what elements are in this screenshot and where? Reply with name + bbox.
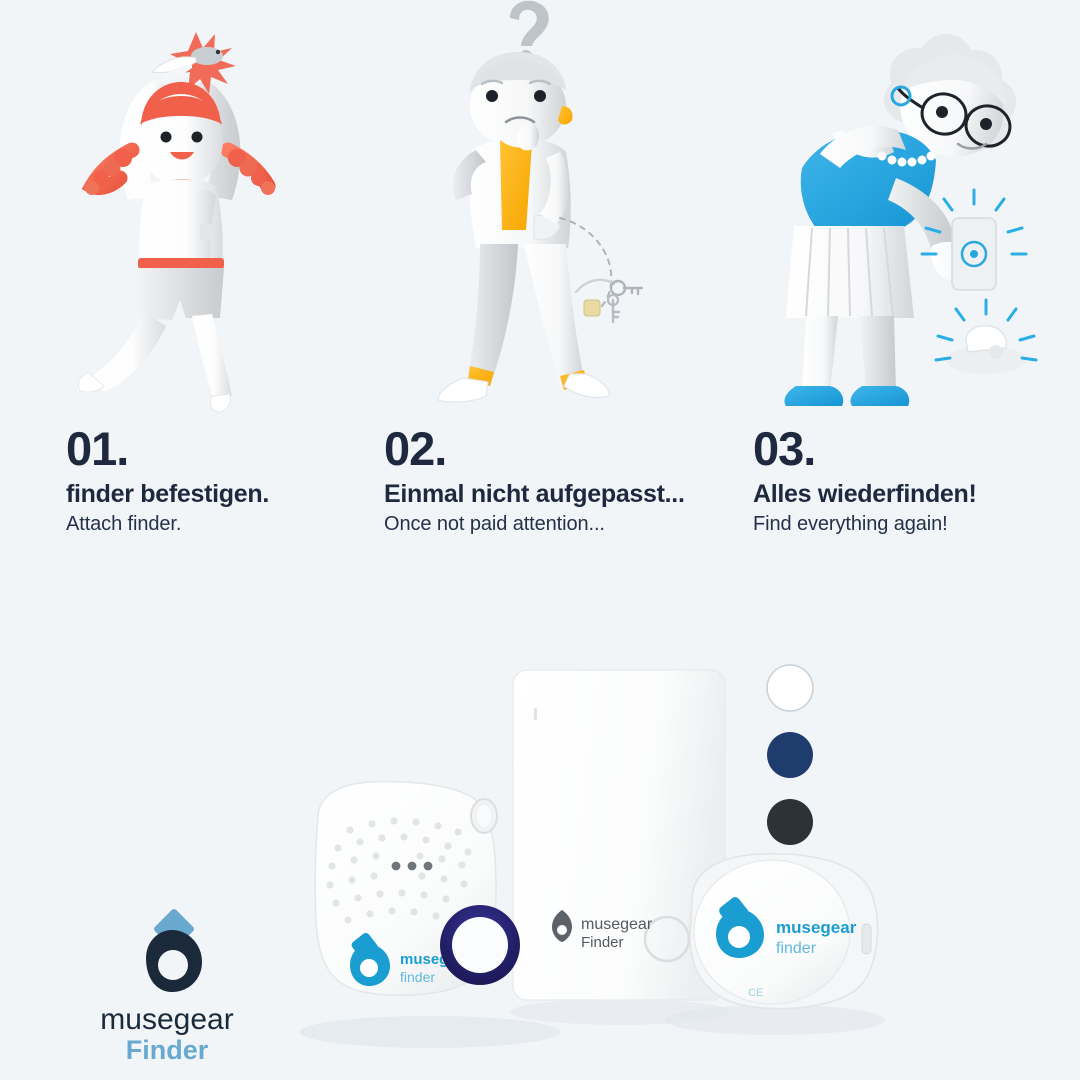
step-caption-1: 01. finder befestigen. Attach finder.	[0, 425, 360, 536]
color-swatch-navy	[767, 732, 813, 778]
step-card-2: 02. Einmal nicht aufgepasst... Once not …	[360, 0, 720, 600]
color-swatch-white	[767, 665, 813, 711]
step-card-1: 01. finder befestigen. Attach finder.	[0, 0, 360, 600]
step-title-en: Find everything again!	[753, 513, 1080, 536]
step-caption-3: 03. Alles wiederfinden! Find everything …	[720, 425, 1080, 536]
oval-logo-sub: finder	[776, 940, 817, 957]
step-number: 03.	[753, 425, 1080, 472]
step-card-3: 03. Alles wiederfinden! Find everything …	[720, 0, 1080, 600]
step-title-en: Attach finder.	[66, 513, 360, 536]
brand-logo-block: musegear Finder	[62, 908, 272, 1063]
musegear-droplet-logo	[146, 908, 202, 992]
square-finder-tracker: musegear finder	[315, 782, 520, 996]
steps-section: 01. finder befestigen. Attach finder.	[0, 0, 1080, 600]
woman-finding-with-phone-illustration	[720, 0, 1080, 418]
step-number: 02.	[384, 425, 720, 472]
keyring-hole	[471, 799, 497, 833]
brand-word-mark: musegear	[100, 1003, 233, 1036]
card-logo-sub: Finder	[581, 934, 624, 951]
oval-finder-tracker: musegear finder CE	[690, 854, 878, 1009]
brand-sub-mark: Finder	[126, 1035, 209, 1063]
oval-logo-word: musegear	[776, 918, 857, 937]
card-logo-word: musegear	[581, 916, 653, 933]
step-title-de: finder befestigen.	[66, 480, 360, 508]
step-title-de: Einmal nicht aufgepasst...	[384, 480, 720, 508]
step-number: 01.	[66, 425, 360, 472]
step-title-en: Once not paid attention...	[384, 513, 720, 536]
navy-ring-button	[440, 905, 520, 985]
page-root: 01. finder befestigen. Attach finder.	[0, 0, 1080, 1080]
step-title-de: Alles wiederfinden!	[753, 480, 1080, 508]
girl-celebrating-illustration	[0, 0, 360, 418]
color-swatch-list	[767, 665, 813, 845]
color-swatch-black	[767, 799, 813, 845]
glowing-finder-on-ground	[936, 300, 1036, 374]
step-caption-2: 02. Einmal nicht aufgepasst... Once not …	[360, 425, 720, 536]
square-logo-sub: finder	[400, 969, 435, 985]
man-losing-keys-illustration	[360, 0, 720, 418]
ce-marking: CE	[748, 987, 763, 999]
